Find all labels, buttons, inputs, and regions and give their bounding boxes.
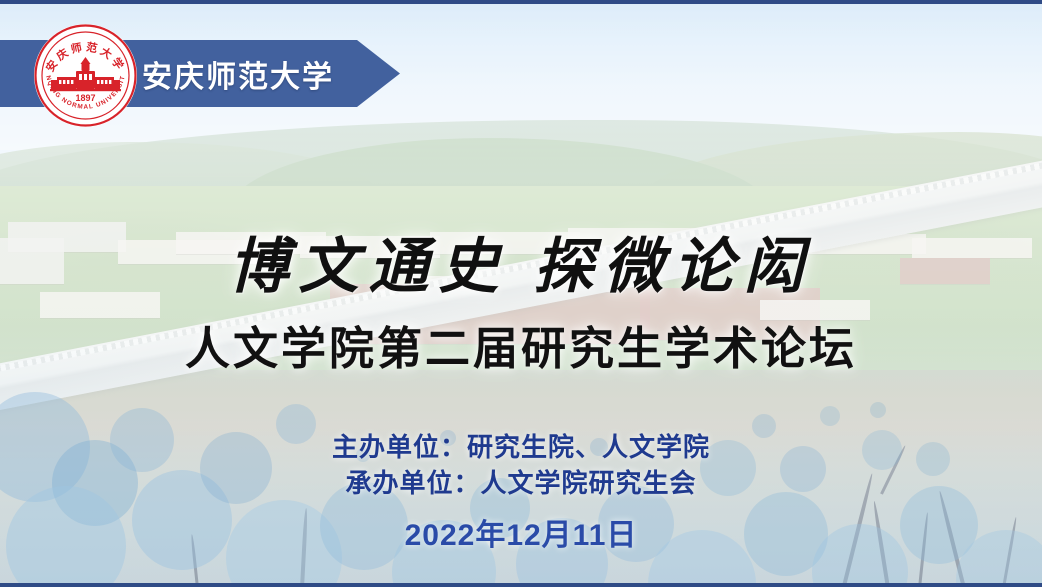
page-subtitle: 人文学院第二届研究生学术论坛: [0, 312, 1042, 377]
top-rule: [0, 0, 1042, 4]
presentation-slide: 安庆师范大学 安庆师范大学 ANQING NORMAL UNIVERSITY: [0, 0, 1042, 587]
bokeh-circle: [870, 402, 886, 418]
university-name-label: 安庆师范大学: [142, 52, 334, 96]
bottom-rule: [0, 583, 1042, 587]
organizer-organization-line: 承办单位：人文学院研究生会: [0, 466, 1042, 502]
seal-year-label: 1897: [75, 93, 95, 103]
host-organization-line: 主办单位：研究生院、人文学院: [0, 430, 1042, 466]
bokeh-circle: [820, 406, 840, 426]
university-seal-logo: 安庆师范大学 ANQING NORMAL UNIVERSITY: [33, 23, 138, 128]
event-credits: 主办单位：研究生院、人文学院 承办单位：人文学院研究生会 2022年12月11日: [0, 430, 1042, 554]
page-title: 博文通史 探微论闳: [0, 218, 1042, 305]
event-date: 2022年12月11日: [0, 510, 1042, 554]
